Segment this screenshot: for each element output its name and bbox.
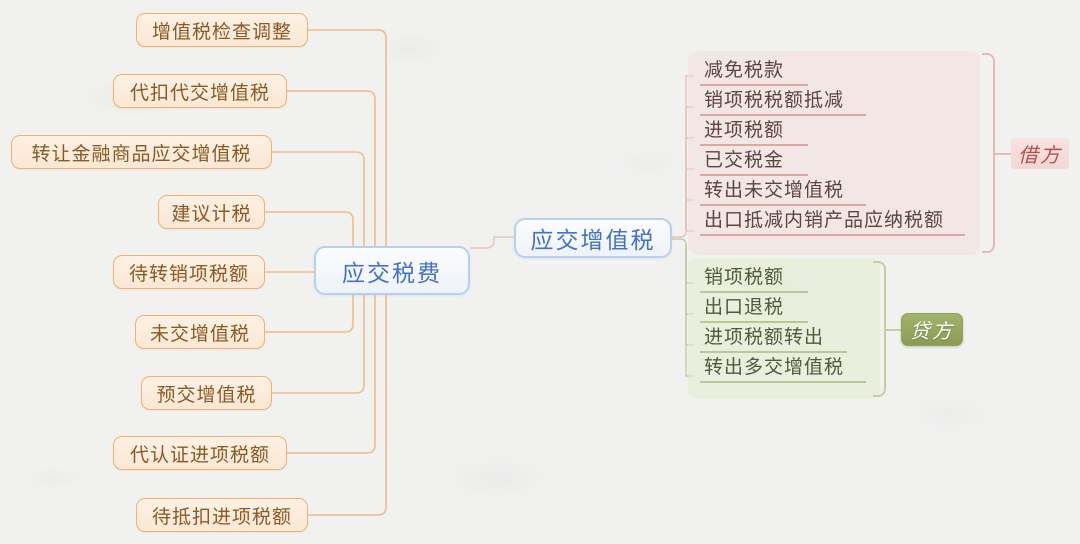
group-item-debit[interactable]: 减免税款 [700, 56, 808, 86]
leaf-label: 未交增值税 [150, 319, 250, 346]
leaf-node-daikoudaijiao-zengzhishui[interactable]: 代扣代交增值税 [113, 74, 287, 108]
group-item-credit[interactable]: 出口退税 [700, 293, 808, 323]
leaf-node-zhuanrang-jinrongshangpin[interactable]: 转让金融商品应交增值税 [11, 135, 272, 169]
root-node-label: 应交税费 [342, 254, 442, 288]
root-node-yingjiaoshuifei[interactable]: 应交税费 [314, 246, 470, 295]
side-label-debit-text: 借方 [1018, 139, 1062, 168]
group-panel-credit: 销项税额 出口退税 进项税额转出 转出多交增值税 [688, 258, 880, 399]
mindmap-canvas: 增值税检查调整 代扣代交增值税 转让金融商品应交增值税 建议计税 待转销项税额 … [0, 0, 1080, 544]
leaf-node-yujiao-zengzhishui[interactable]: 预交增值税 [141, 376, 272, 410]
leaf-label: 建议计税 [171, 199, 251, 226]
side-label-credit[interactable]: 贷方 [901, 313, 963, 346]
leaf-node-zengzhishui-jianchatiaozheng[interactable]: 增值税检查调整 [136, 13, 308, 47]
bracket-debit [982, 53, 995, 253]
group-item-debit[interactable]: 进项税额 [700, 116, 808, 146]
group-item-credit[interactable]: 转出多交增值税 [700, 353, 866, 383]
branch-node-yingjiaozengzhishui[interactable]: 应交增值税 [514, 218, 672, 258]
group-item-debit[interactable]: 转出未交增值税 [700, 176, 866, 206]
leaf-node-weijiao-zengzhishui[interactable]: 未交增值税 [135, 315, 265, 349]
group-panel-debit: 减免税款 销项税税额抵减 进项税额 已交税金 转出未交增值税 出口抵减内销产品应… [688, 51, 980, 255]
group-item-credit[interactable]: 销项税额 [700, 263, 808, 293]
leaf-label: 增值税检查调整 [152, 17, 292, 44]
leaf-node-dairenzheng-jinxiangshuie[interactable]: 代认证进项税额 [113, 436, 287, 470]
leaf-node-daidikou-jinxiangshuie[interactable]: 待抵扣进项税额 [136, 498, 308, 532]
group-item-credit[interactable]: 进项税额转出 [700, 323, 847, 353]
leaf-node-jianyijishui[interactable]: 建议计税 [158, 195, 265, 229]
group-item-debit[interactable]: 销项税税额抵减 [700, 86, 866, 116]
leaf-label: 代认证进项税额 [130, 440, 270, 467]
leaf-label: 预交增值税 [156, 380, 256, 407]
group-item-debit[interactable]: 出口抵减内销产品应纳税额 [700, 206, 965, 236]
side-label-credit-text: 贷方 [910, 315, 954, 344]
leaf-node-daizhuan-xiaoxiangshuie[interactable]: 待转销项税额 [113, 255, 265, 289]
leaf-label: 待抵扣进项税额 [152, 502, 292, 529]
leaf-label: 转让金融商品应交增值税 [31, 139, 251, 166]
bracket-credit [873, 261, 886, 397]
side-label-debit[interactable]: 借方 [1011, 138, 1069, 169]
leaf-label: 待转销项税额 [129, 259, 249, 286]
leaf-label: 代扣代交增值税 [130, 78, 270, 105]
group-item-debit[interactable]: 已交税金 [700, 146, 808, 176]
branch-node-label: 应交增值税 [531, 221, 656, 255]
